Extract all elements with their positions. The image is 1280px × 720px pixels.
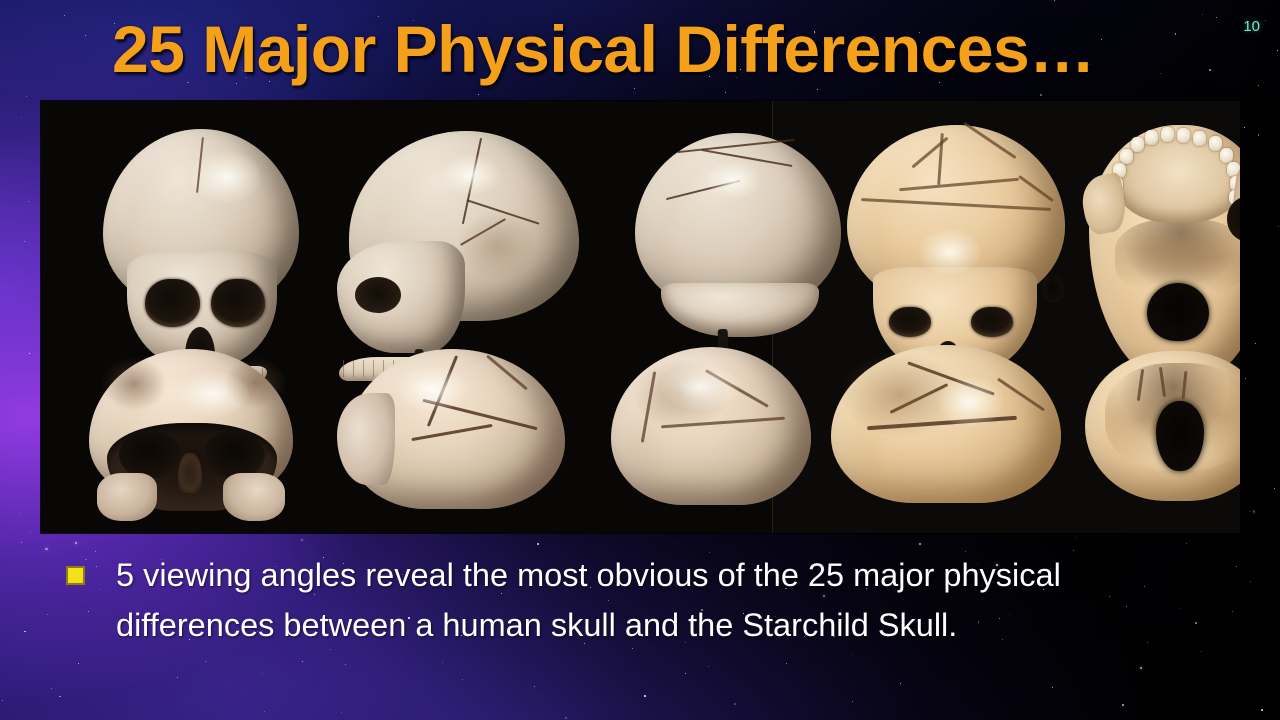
star (685, 673, 686, 674)
star (28, 201, 29, 202)
star (1274, 488, 1275, 489)
star (262, 673, 263, 674)
star (786, 663, 787, 664)
starchild-skull-side-rim (337, 393, 395, 485)
star (900, 683, 901, 684)
starchild-skull-left-orbit (119, 431, 183, 479)
star (1122, 704, 1124, 706)
star (177, 677, 178, 678)
star (1201, 651, 1202, 652)
star (20, 513, 21, 514)
star (919, 543, 921, 545)
star (1140, 667, 1142, 669)
star (565, 717, 567, 719)
star (21, 117, 22, 118)
star (24, 241, 25, 242)
human-skull-tooth-arch (1105, 127, 1240, 231)
star (1258, 134, 1260, 136)
star (29, 353, 30, 354)
page-number: 10 (1243, 18, 1260, 35)
star (345, 664, 346, 665)
starchild-skull-foramen-magnum (1156, 401, 1204, 471)
star (1261, 709, 1263, 711)
star (21, 542, 22, 543)
star (1244, 127, 1245, 128)
star (537, 543, 539, 545)
star (442, 662, 443, 663)
star (1232, 611, 1233, 612)
bullet-text: 5 viewing angles reveal the most obvious… (116, 550, 1226, 650)
star (264, 711, 265, 712)
bullet-square-icon (66, 566, 85, 585)
star (1249, 511, 1250, 512)
human-skull-top-right-orbit (971, 307, 1013, 337)
star (1245, 378, 1246, 379)
star (301, 539, 303, 541)
human-skull-right-orbit (211, 279, 265, 327)
human-skull-foramen-magnum (1147, 283, 1209, 341)
star (205, 661, 207, 663)
star (1236, 566, 1237, 567)
star (45, 548, 47, 550)
human-skull-side-orbit (355, 277, 401, 313)
star (51, 688, 52, 689)
title-band: 25 Major Physical Differences… (0, 0, 1280, 100)
body-text-block: 5 viewing angles reveal the most obvious… (66, 550, 1226, 650)
star (75, 542, 77, 544)
starchild-skull-right-orbit (203, 431, 265, 479)
star (2, 700, 3, 701)
star (302, 661, 303, 662)
star (734, 703, 736, 705)
bullet-item: 5 viewing angles reveal the most obvious… (66, 550, 1226, 650)
star (852, 701, 853, 702)
cranial-sutures (847, 125, 1065, 275)
star (534, 686, 535, 687)
star (47, 614, 48, 615)
starchild-skull-left-cheek (97, 473, 157, 521)
slide-title: 25 Major Physical Differences… (112, 16, 1095, 82)
star (1253, 510, 1255, 512)
star (462, 679, 463, 680)
skull-comparison-photo-panel (41, 101, 1240, 533)
star (1052, 687, 1053, 688)
star (708, 666, 709, 667)
presentation-slide: 25 Major Physical Differences… 10 (0, 0, 1280, 720)
human-skull-auditory-meatus (1042, 275, 1064, 303)
starchild-skull-nasal-region (178, 453, 202, 493)
star (1278, 226, 1279, 227)
star (78, 663, 80, 665)
star (341, 712, 342, 713)
human-skull-top-left-orbit (889, 307, 931, 337)
star (1186, 543, 1187, 544)
star (1255, 343, 1257, 345)
star (59, 696, 61, 698)
star (851, 654, 852, 655)
starchild-skull-right-cheek (223, 473, 285, 521)
human-skull-left-orbit (145, 279, 200, 327)
star (1075, 537, 1076, 538)
star (644, 695, 646, 697)
star (1250, 581, 1251, 582)
star (24, 631, 26, 633)
star (30, 532, 31, 533)
